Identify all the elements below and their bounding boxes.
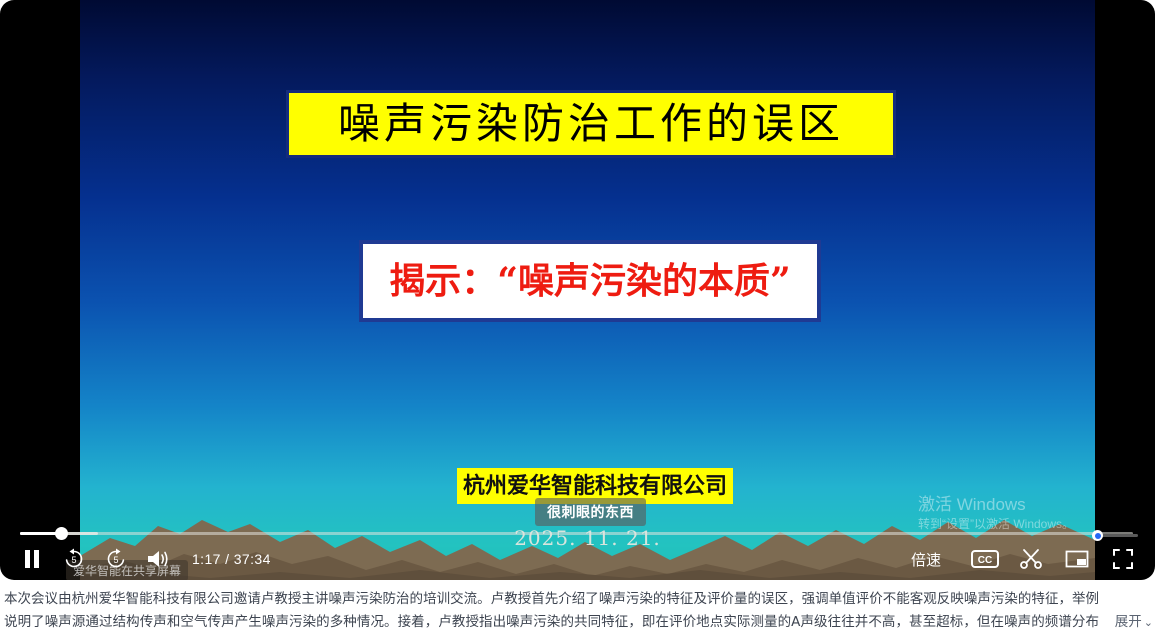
rewind-5-button[interactable]: 5 bbox=[58, 543, 90, 575]
volume-icon bbox=[146, 548, 170, 570]
picture-in-picture-icon bbox=[1065, 549, 1089, 569]
volume-button[interactable] bbox=[142, 543, 174, 575]
chevron-down-icon: ⌄ bbox=[1144, 616, 1153, 629]
forward-5-button[interactable]: 5 bbox=[100, 543, 132, 575]
picture-in-picture-button[interactable] bbox=[1061, 543, 1093, 575]
video-frame[interactable]: 噪声污染防治工作的误区 揭示：“噪声污染的本质” 杭州爱华智能科技有限公司 很刺… bbox=[80, 0, 1095, 580]
progress-bar[interactable] bbox=[20, 531, 1133, 536]
pause-icon bbox=[23, 549, 41, 569]
captions-button[interactable]: CC bbox=[969, 543, 1001, 575]
forward-5-icon: 5 bbox=[104, 547, 128, 571]
description-text: 本次会议由杭州爱华智能科技有限公司邀请卢教授主讲噪声污染防治的培训交流。卢教授首… bbox=[4, 588, 1153, 634]
svg-text:5: 5 bbox=[71, 555, 76, 565]
slide-title: 噪声污染防治工作的误区 bbox=[338, 103, 844, 145]
player-control-bar[interactable]: 5 5 1:17 / 37:34 倍速 CC bbox=[0, 538, 1155, 580]
expand-description-button[interactable]: 展开⌄ bbox=[1105, 611, 1153, 634]
video-description: 本次会议由杭州爱华智能科技有限公司邀请卢教授主讲噪声污染防治的培训交流。卢教授首… bbox=[0, 588, 1161, 634]
video-player[interactable]: 噪声污染防治工作的误区 揭示：“噪声污染的本质” 杭州爱华智能科技有限公司 很刺… bbox=[0, 0, 1155, 580]
slide-title-box: 噪声污染防治工作的误区 bbox=[286, 90, 896, 158]
svg-text:5: 5 bbox=[113, 555, 118, 565]
pause-button[interactable] bbox=[16, 543, 48, 575]
rewind-5-icon: 5 bbox=[62, 547, 86, 571]
scissors-icon bbox=[1019, 547, 1043, 571]
slide-subtitle-box: 揭示：“噪声污染的本质” bbox=[359, 240, 821, 322]
fullscreen-button[interactable] bbox=[1107, 543, 1139, 575]
danmaku-comment: 很刺眼的东西 bbox=[535, 498, 646, 526]
playback-speed-button[interactable]: 倍速 bbox=[911, 549, 941, 570]
expand-label: 展开 bbox=[1115, 614, 1142, 630]
slide-subtitle: 揭示：“噪声污染的本质” bbox=[389, 263, 790, 299]
svg-text:CC: CC bbox=[978, 555, 992, 566]
clip-button[interactable] bbox=[1015, 543, 1047, 575]
progress-track[interactable] bbox=[20, 532, 1133, 535]
fullscreen-icon bbox=[1112, 548, 1134, 570]
slide-company: 杭州爱华智能科技有限公司 bbox=[463, 475, 727, 497]
time-display: 1:17 / 37:34 bbox=[192, 551, 271, 567]
cc-icon: CC bbox=[971, 549, 999, 569]
